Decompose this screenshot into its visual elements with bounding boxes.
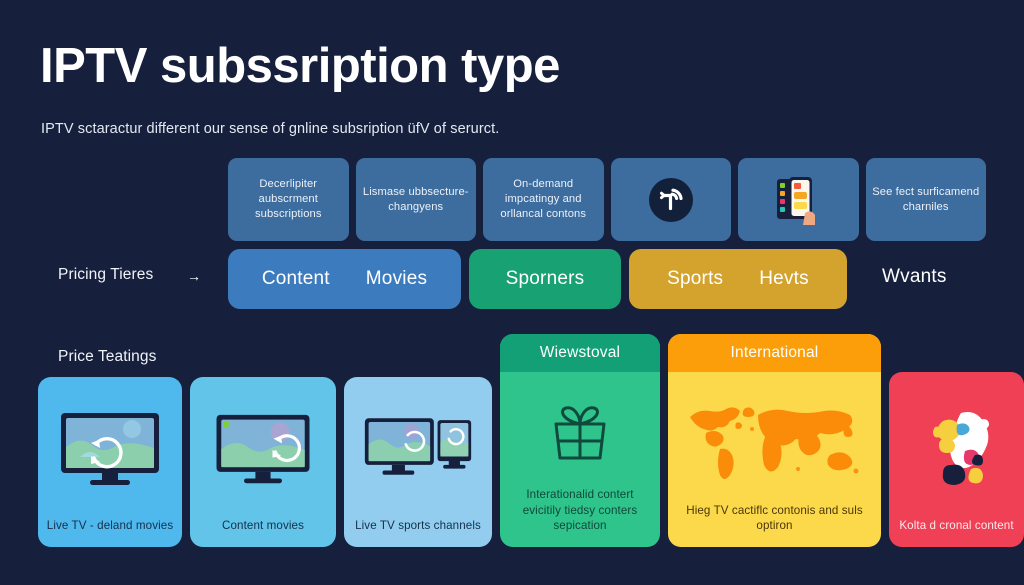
plan-card-caption: Interationalid contert evicitily tiedsy …	[500, 487, 660, 547]
tv-screen-icon	[190, 377, 336, 518]
feature-card-lismase[interactable]: Lismase ubbsecture-changyens	[356, 158, 477, 241]
arrow-right-icon: →	[187, 268, 201, 284]
feature-card-label: On-demand impcatingy and orllancal conto…	[489, 177, 598, 221]
tier-trailing-label: Wvants	[882, 266, 947, 288]
feature-card-see-fect[interactable]: See fect surficamend charniles	[866, 158, 987, 241]
plan-card-live-tv-sports[interactable]: Live TV sports channels	[344, 377, 492, 547]
phone-app-icon	[775, 175, 821, 225]
tier-word: Movies	[366, 268, 427, 290]
infographic-root: IPTV subssription type IPTV sctaractur d…	[0, 0, 1024, 585]
feature-card-label: Lismase ubbsecture-changyens	[362, 185, 471, 215]
tier-word: Sports	[667, 268, 723, 290]
plan-card-caption: Hieg TV cactiflc contonis and suls optir…	[668, 503, 881, 547]
tier-pill-sports-hevts[interactable]: Sports Hevts	[629, 249, 847, 309]
plan-card-live-tv-demand[interactable]: Live TV - deland movies	[38, 377, 182, 547]
tier-word: Hevts	[759, 268, 809, 290]
tier-word: Sporners	[506, 268, 585, 290]
plan-card-row: Live TV - deland movies	[38, 334, 986, 547]
world-map-icon	[668, 372, 881, 503]
plan-card-header: International	[668, 334, 881, 372]
feature-card-on-demand[interactable]: On-demand impcatingy and orllancal conto…	[483, 158, 604, 241]
page-title: IPTV subssription type	[40, 38, 560, 94]
feature-chip-row: Decerlipiter aubscrment subscriptions Li…	[228, 158, 986, 241]
plan-card-caption: Kolta d cronal content	[889, 518, 1024, 547]
tier-pill-sporners[interactable]: Sporners	[469, 249, 621, 309]
tier-pill-content-movies[interactable]: Content Movies	[228, 249, 461, 309]
plan-card-caption: Live TV - deland movies	[38, 518, 182, 547]
plan-card-wiewstoval[interactable]: Wiewstoval Interationalid contert evicit…	[500, 334, 660, 547]
feature-card-decerlipiter[interactable]: Decerlipiter aubscrment subscriptions	[228, 158, 349, 241]
feature-card-label: See fect surficamend charniles	[872, 185, 981, 215]
tier-word: Content	[262, 268, 330, 290]
feature-card-wifi[interactable]	[611, 158, 732, 241]
feature-card-mobile-app[interactable]	[738, 158, 859, 241]
multi-screen-icon	[344, 377, 492, 518]
plan-card-caption: Live TV sports channels	[344, 518, 492, 547]
plan-card-content-movies[interactable]: Content movies	[190, 377, 336, 547]
plan-card-caption: Content movies	[190, 518, 336, 547]
plan-card-header: Wiewstoval	[500, 334, 660, 372]
region-map-icon	[889, 372, 1024, 518]
page-subtitle: IPTV sctaractur different our sense of g…	[41, 121, 499, 137]
plan-card-kolta-cronal[interactable]: Kolta d cronal content	[889, 372, 1024, 547]
wifi-broadcast-icon	[649, 178, 693, 222]
pricing-tiers-label: Pricing Tieres	[58, 266, 153, 284]
plan-card-international[interactable]: International	[668, 334, 881, 547]
feature-card-label: Decerlipiter aubscrment subscriptions	[234, 177, 343, 221]
tv-screen-icon	[38, 377, 182, 518]
gift-box-icon	[500, 372, 660, 487]
